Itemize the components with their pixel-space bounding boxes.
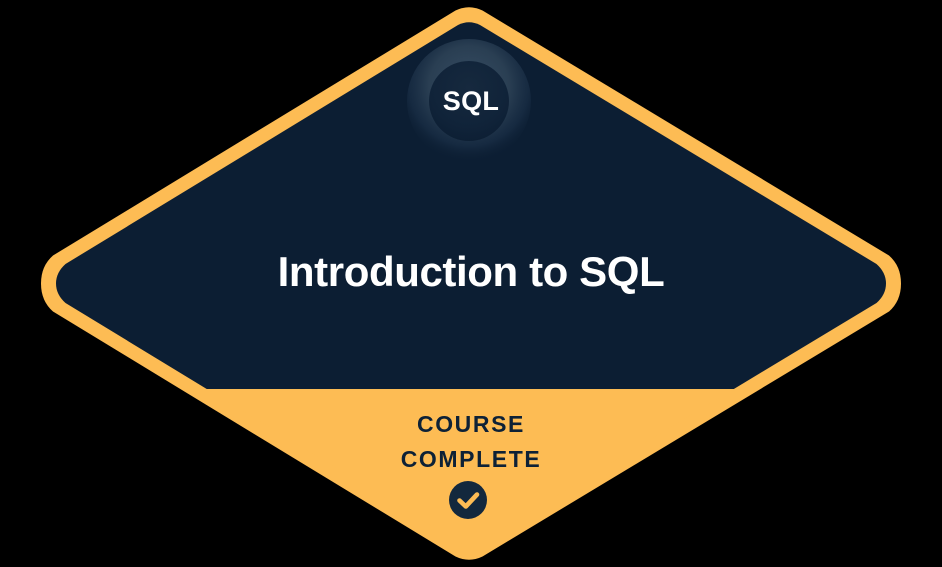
badge-graphic [0, 0, 942, 567]
check-circle-icon [449, 481, 487, 519]
course-completion-badge[interactable]: SQL Introduction to SQL COURSE COMPLETE [0, 0, 942, 567]
sql-chip-core [429, 61, 509, 141]
